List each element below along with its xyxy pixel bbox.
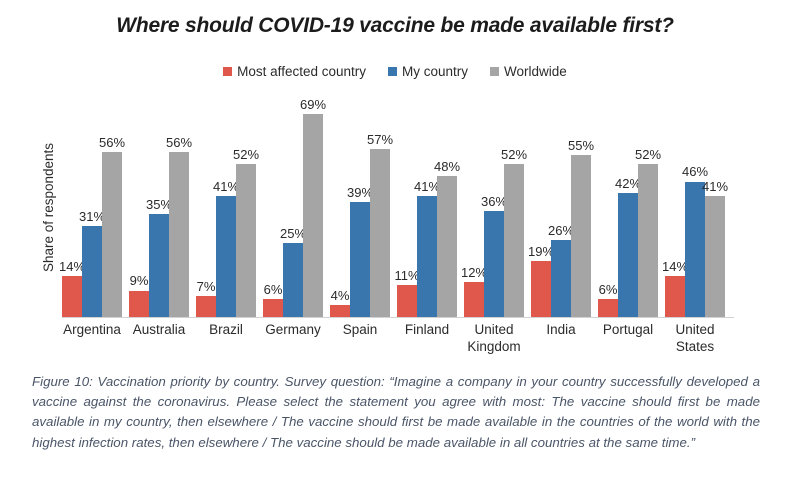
bar-group: 6%25%69% [263, 96, 323, 317]
bar-value-label: 52% [635, 148, 661, 161]
x-axis-tick-label: Argentina [62, 322, 122, 356]
bar-slot: 52% [236, 96, 256, 317]
bar[interactable] [464, 282, 484, 317]
plot-area: Share of respondents 14%31%56%9%35%56%7%… [62, 96, 742, 318]
x-axis-tick-label: United Kingdom [464, 322, 524, 356]
bar[interactable] [330, 305, 350, 317]
bar[interactable] [370, 149, 390, 317]
bar[interactable] [397, 285, 417, 317]
bar-slot: 26% [551, 96, 571, 317]
bar-slot: 52% [638, 96, 658, 317]
bar-slot: 41% [216, 96, 236, 317]
bar-group: 9%35%56% [129, 96, 189, 317]
bar[interactable] [350, 202, 370, 317]
bar-slot: 57% [370, 96, 390, 317]
bar[interactable] [417, 196, 437, 317]
bar-value-label: 6% [264, 283, 283, 296]
bar[interactable] [484, 211, 504, 317]
bar-group: 14%46%41% [665, 96, 725, 317]
figure-container: Where should COVID-19 vaccine be made av… [0, 0, 790, 482]
bar-slot: 42% [618, 96, 638, 317]
bar[interactable] [685, 182, 705, 318]
bar-slot: 14% [62, 96, 82, 317]
bar-slot: 46% [685, 96, 705, 317]
x-axis-tick-label: United States [665, 322, 725, 356]
x-axis-tick-label: Australia [129, 322, 189, 356]
bar[interactable] [283, 243, 303, 317]
bar[interactable] [437, 176, 457, 317]
bar[interactable] [665, 276, 685, 317]
bar-slot: 69% [303, 96, 323, 317]
bar[interactable] [169, 152, 189, 317]
bar-slot: 56% [169, 96, 189, 317]
bar-slot: 14% [665, 96, 685, 317]
bar-slot: 11% [397, 96, 417, 317]
bar-value-label: 48% [434, 160, 460, 173]
legend-swatch-icon [223, 67, 232, 76]
bar[interactable] [618, 193, 638, 317]
legend-item-0[interactable]: Most affected country [223, 64, 366, 79]
figure-caption: Figure 10: Vaccination priority by count… [32, 372, 760, 453]
bar-slot: 55% [571, 96, 591, 317]
bar[interactable] [504, 164, 524, 317]
bar-slot: 7% [196, 96, 216, 317]
bar-group: 6%42%52% [598, 96, 658, 317]
bar[interactable] [598, 299, 618, 317]
bar-value-label: 56% [166, 136, 192, 149]
bar-group: 19%26%55% [531, 96, 591, 317]
x-axis-line [62, 317, 734, 318]
bar-value-label: 55% [568, 139, 594, 152]
x-axis-tick-label: Brazil [196, 322, 256, 356]
bar[interactable] [216, 196, 236, 317]
bar-slot: 6% [263, 96, 283, 317]
legend-label: Worldwide [504, 64, 567, 79]
bar-slot: 6% [598, 96, 618, 317]
bar-slot: 39% [350, 96, 370, 317]
bar-slot: 36% [484, 96, 504, 317]
legend-item-2[interactable]: Worldwide [490, 64, 567, 79]
y-axis-title: Share of respondents [40, 96, 58, 318]
bar[interactable] [129, 291, 149, 318]
bar-value-label: 57% [367, 133, 393, 146]
bar[interactable] [571, 155, 591, 317]
bar-value-label: 9% [130, 274, 149, 287]
bar-value-label: 4% [331, 289, 350, 302]
chart-title: Where should COVID-19 vaccine be made av… [0, 14, 790, 38]
legend-label: My country [402, 64, 468, 79]
y-axis-title-text: Share of respondents [42, 142, 57, 271]
bar[interactable] [263, 299, 283, 317]
bar-slot: 35% [149, 96, 169, 317]
bar-value-label: 52% [233, 148, 259, 161]
bar-slot: 31% [82, 96, 102, 317]
bar[interactable] [149, 214, 169, 317]
bar[interactable] [196, 296, 216, 317]
bar-value-label: 69% [300, 98, 326, 111]
bar-group: 11%41%48% [397, 96, 457, 317]
legend-swatch-icon [388, 67, 397, 76]
legend-item-1[interactable]: My country [388, 64, 468, 79]
bar-slot: 4% [330, 96, 350, 317]
bar-groups: 14%31%56%9%35%56%7%41%52%6%25%69%4%39%57… [62, 96, 725, 317]
bar-value-label: 7% [197, 280, 216, 293]
bar[interactable] [551, 240, 571, 317]
bar[interactable] [638, 164, 658, 317]
bar-group: 4%39%57% [330, 96, 390, 317]
legend-swatch-icon [490, 67, 499, 76]
bar-slot: 19% [531, 96, 551, 317]
bar-slot: 56% [102, 96, 122, 317]
x-axis-tick-label: India [531, 322, 591, 356]
bar[interactable] [236, 164, 256, 317]
bar-value-label: 52% [501, 148, 527, 161]
bar-value-label: 6% [599, 283, 618, 296]
bar-slot: 41% [417, 96, 437, 317]
bar[interactable] [102, 152, 122, 317]
bar-slot: 48% [437, 96, 457, 317]
bar-value-label: 56% [99, 136, 125, 149]
bar-group: 14%31%56% [62, 96, 122, 317]
bar-group: 12%36%52% [464, 96, 524, 317]
chart-legend: Most affected countryMy countryWorldwide [0, 64, 790, 79]
bar[interactable] [82, 226, 102, 317]
bar-slot: 25% [283, 96, 303, 317]
x-axis-tick-label: Germany [263, 322, 323, 356]
x-axis-tick-label: Spain [330, 322, 390, 356]
bar-value-label: 41% [702, 180, 728, 193]
bar[interactable] [705, 196, 725, 317]
bar[interactable] [303, 114, 323, 317]
bar-slot: 52% [504, 96, 524, 317]
legend-label: Most affected country [237, 64, 366, 79]
x-axis-tick-label: Portugal [598, 322, 658, 356]
x-axis-tick-label: Finland [397, 322, 457, 356]
bar-slot: 41% [705, 96, 725, 317]
x-axis-category-labels: ArgentinaAustraliaBrazilGermanySpainFinl… [62, 322, 742, 356]
bar[interactable] [531, 261, 551, 317]
bar[interactable] [62, 276, 82, 317]
bar-group: 7%41%52% [196, 96, 256, 317]
bar-value-label: 11% [394, 269, 419, 282]
